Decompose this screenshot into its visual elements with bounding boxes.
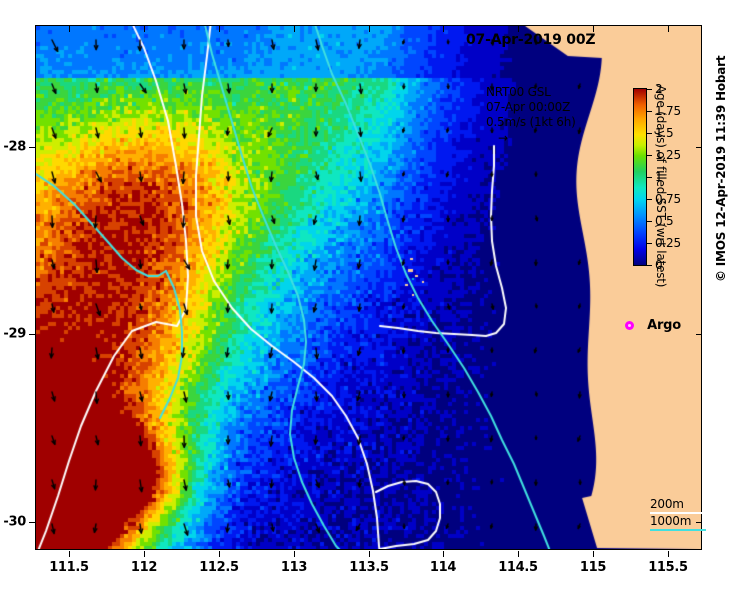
current-vector-key: NRT00 GSL 07-Apr 00:00Z 0.5m/s (1kt 6h) … (486, 85, 616, 146)
y-axis-tick (696, 147, 702, 148)
x-axis-tick (69, 26, 70, 32)
x-axis-tick (369, 551, 370, 557)
x-axis-tick (443, 26, 444, 32)
y-axis-tick-label: -28 (0, 140, 26, 155)
colorbar-tick (647, 221, 652, 222)
y-axis-tick-label: -30 (0, 515, 26, 530)
x-axis-tick (144, 26, 145, 32)
colorbar-tick (647, 89, 652, 90)
x-axis-tick-label: 115.5 (648, 560, 688, 575)
map-title: 07-Apr-2019 00Z (466, 32, 595, 48)
x-axis-tick-label: 115 (580, 560, 606, 575)
x-axis-tick-label: 113.5 (349, 560, 389, 575)
depth-legend-label: 1000m (650, 515, 710, 528)
colorbar-tick (647, 177, 652, 178)
x-axis-tick (294, 551, 295, 557)
colorbar-tick (647, 155, 652, 156)
colorbar-axis-label: Age (days) of filled SST (wrt latest) (654, 85, 668, 269)
x-axis-tick-label: 112.5 (199, 560, 239, 575)
y-axis-tick (29, 522, 35, 523)
x-axis-tick (69, 551, 70, 557)
argo-legend-label: Argo (647, 318, 681, 333)
x-axis-tick (443, 551, 444, 557)
x-axis-tick (593, 551, 594, 557)
sst-age-map-figure: 111.5112112.5113113.5114114.5115115.5-28… (0, 0, 739, 592)
y-axis-tick-label: -29 (0, 327, 26, 342)
y-axis-tick (696, 334, 702, 335)
x-axis-tick-label: 111.5 (49, 560, 89, 575)
depth-legend-label: 200m (650, 498, 710, 511)
colorbar-tick (647, 243, 652, 244)
colorbar-tick (647, 199, 652, 200)
x-axis-tick (219, 551, 220, 557)
x-axis-tick (518, 551, 519, 557)
y-axis-tick (29, 147, 35, 148)
depth-contour-legend: 200m 1000m (650, 498, 710, 532)
depth-legend-rule-1000m (650, 529, 706, 531)
x-axis-tick (144, 551, 145, 557)
x-axis-tick (668, 551, 669, 557)
depth-legend-item-1000m: 1000m (650, 515, 710, 532)
x-axis-tick (668, 26, 669, 32)
x-axis-tick-label: 114.5 (498, 560, 538, 575)
x-axis-tick-label: 112 (131, 560, 157, 575)
colorbar-tick (647, 111, 652, 112)
argo-legend: Argo (625, 315, 681, 334)
colorbar-gradient (633, 88, 647, 266)
depth-legend-item-200m: 200m (650, 498, 710, 515)
vector-key-source: NRT00 GSL (486, 85, 616, 100)
copyright-credit: © IMOS 12-Apr-2019 11:39 Hobart (714, 2, 730, 282)
y-axis-tick (29, 334, 35, 335)
colorbar-tick (647, 133, 652, 134)
argo-marker-icon (625, 321, 634, 330)
vector-key-scale: 0.5m/s (1kt 6h) (486, 115, 616, 130)
colorbar-tick (647, 265, 652, 266)
x-axis-tick (369, 26, 370, 32)
vector-key-arrow-icon: → (498, 131, 616, 146)
x-axis-tick-label: 114 (430, 560, 456, 575)
vector-key-time: 07-Apr 00:00Z (486, 100, 616, 115)
x-axis-tick-label: 113 (281, 560, 307, 575)
x-axis-tick (294, 26, 295, 32)
x-axis-tick (219, 26, 220, 32)
